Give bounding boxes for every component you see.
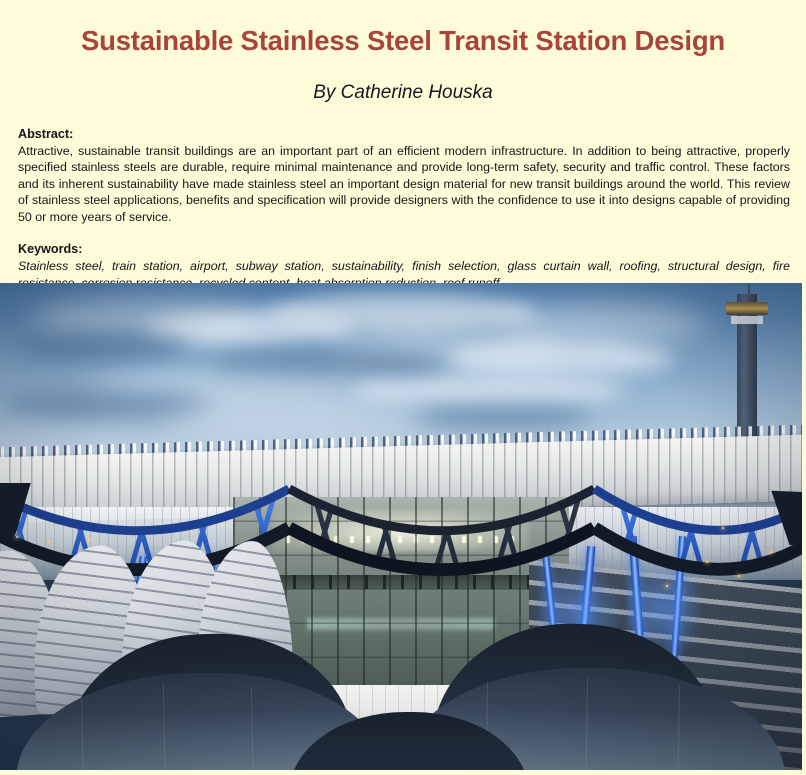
city-light <box>88 539 90 541</box>
city-light <box>722 527 724 529</box>
cloud <box>497 302 706 346</box>
abstract-text: Attractive, sustainable transit building… <box>18 143 790 226</box>
membrane-seam <box>162 682 165 770</box>
cloud <box>160 410 417 434</box>
document-page: Sustainable Stainless Steel Transit Stat… <box>0 0 806 775</box>
transit-station-photo <box>0 283 802 770</box>
membrane-seam <box>251 686 254 770</box>
city-light <box>666 585 668 587</box>
truss-top-chord <box>289 489 594 531</box>
abstract-label: Abstract: <box>18 126 790 143</box>
cloud <box>16 332 192 361</box>
cloud <box>449 341 674 375</box>
keywords-label: Keywords: <box>18 241 790 258</box>
membrane-seam <box>584 677 588 770</box>
city-light <box>770 551 772 553</box>
author-byline: By Catherine Houska <box>0 82 806 104</box>
truss-top-chord <box>0 489 289 531</box>
city-light <box>706 561 708 563</box>
text-block: Abstract: Attractive, sustainable transi… <box>18 104 790 292</box>
page-title: Sustainable Stainless Steel Transit Stat… <box>0 18 806 56</box>
truss-web-center <box>299 444 594 600</box>
cloud <box>353 376 626 405</box>
membrane-seam <box>677 685 680 770</box>
cloud <box>417 405 593 429</box>
membrane-seam <box>81 689 84 770</box>
photo-canvas <box>0 283 802 770</box>
